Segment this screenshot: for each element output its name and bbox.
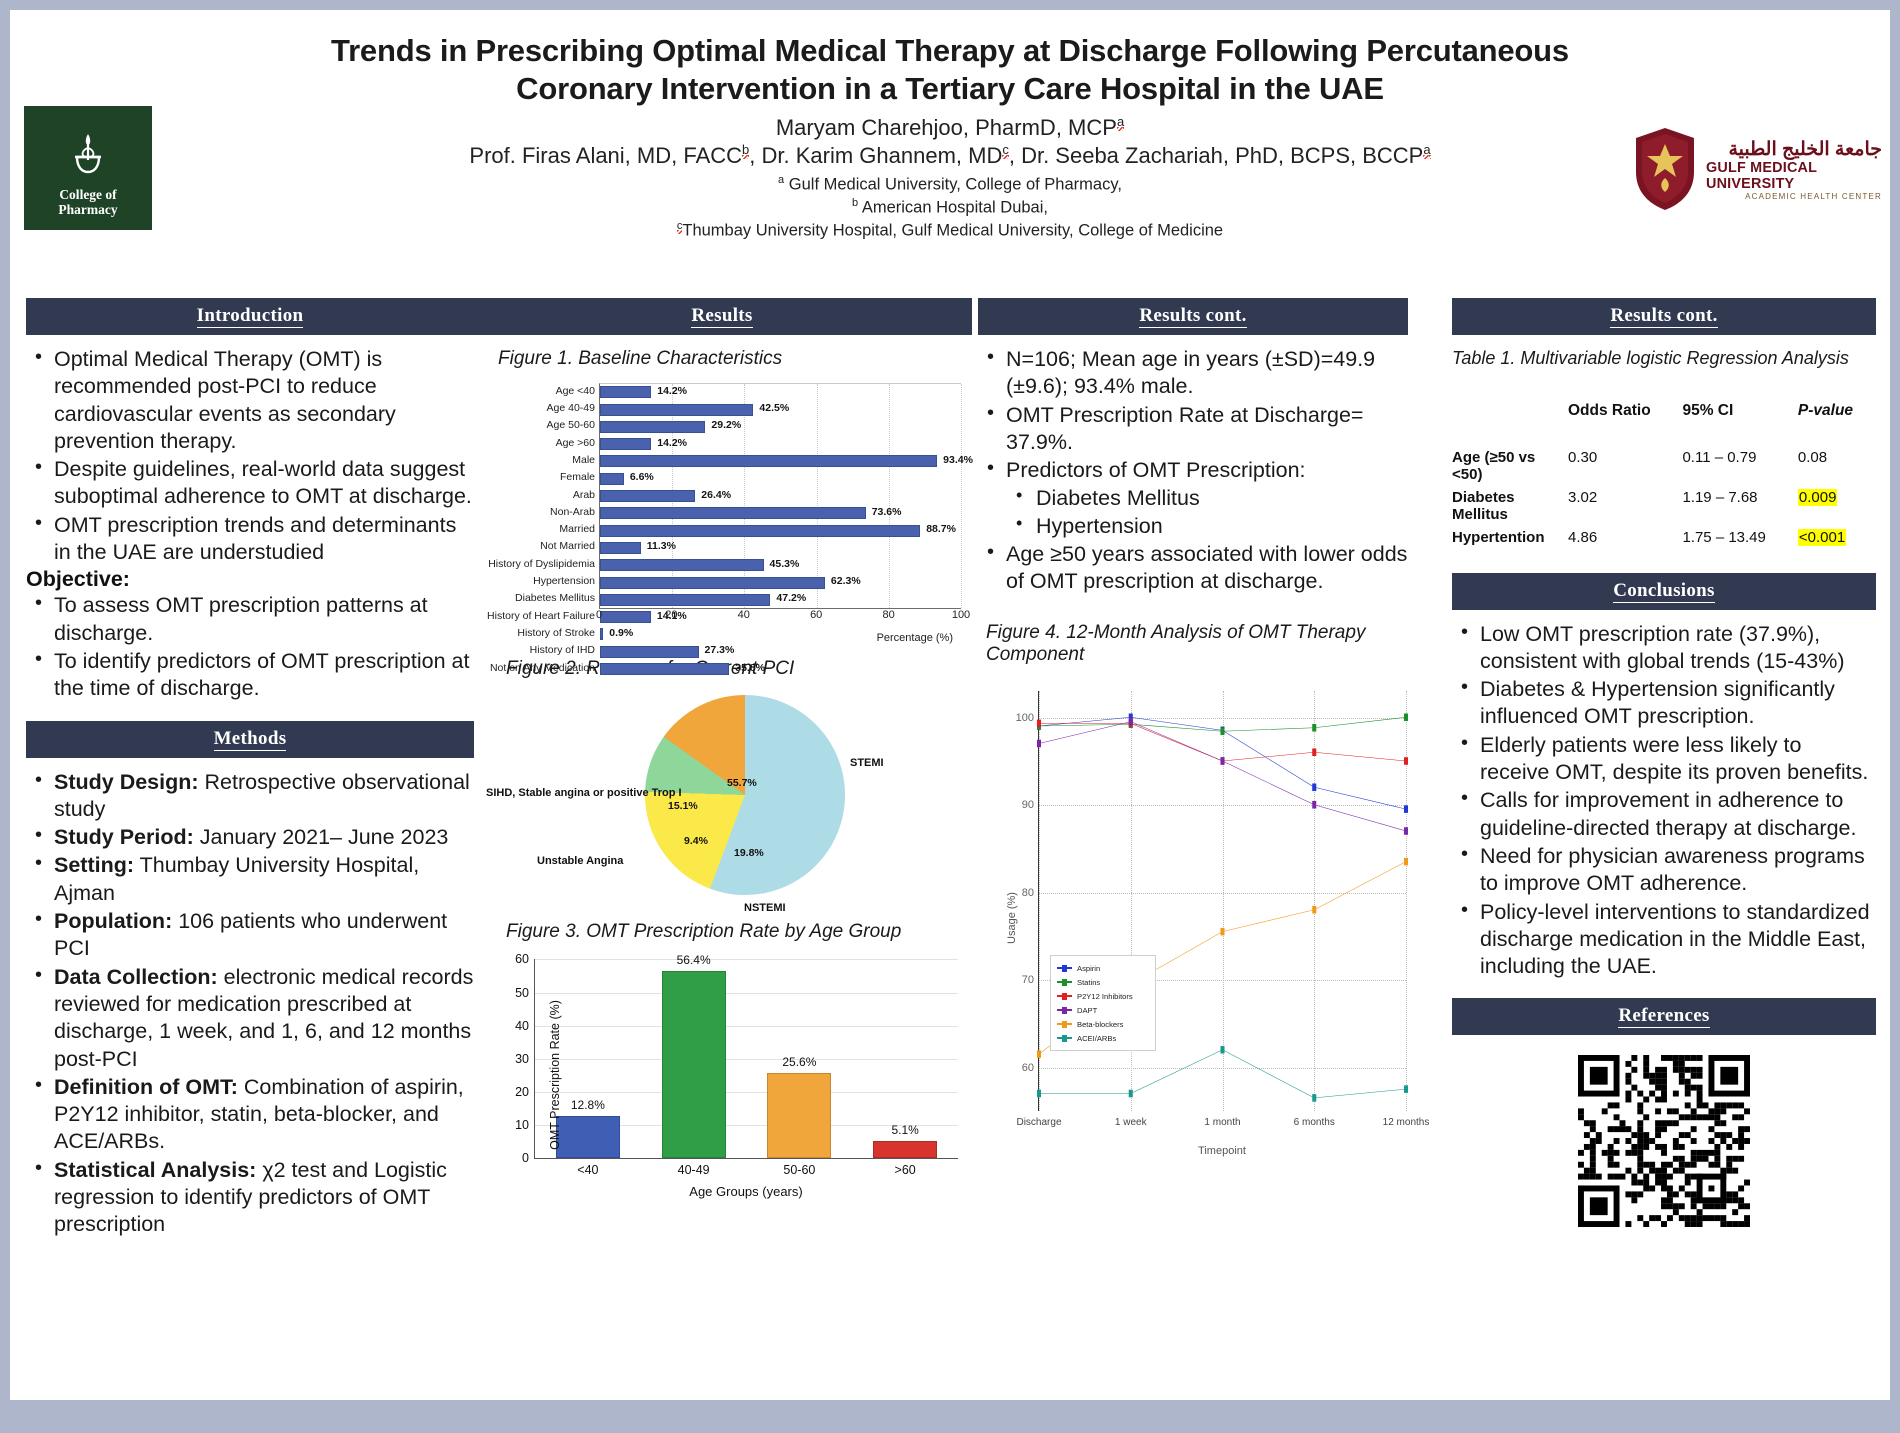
figure-4-caption: Figure 4. 12-Month Analysis of OMT Thera…	[986, 622, 1408, 668]
affiliation-b: b American Hospital Dubai,	[10, 196, 1890, 219]
method-text: January 2021– June 2023	[194, 825, 449, 849]
list-item: Optimal Medical Therapy (OMT) is recomme…	[26, 346, 474, 455]
table-cell-ci: 0.11 – 0.79	[1682, 446, 1797, 486]
list-item: Data Collection: electronic medical reco…	[26, 964, 474, 1073]
bar-value-label: 93.4%	[943, 454, 973, 466]
x-axis-tick: 60	[810, 609, 822, 621]
y-axis-tick: 60	[515, 952, 529, 966]
section-header-methods-label: Methods	[214, 728, 287, 751]
pie-slice-label: Unstable Angina	[537, 855, 623, 867]
legend-label: Aspirin	[1077, 964, 1100, 973]
list-item: To identify predictors of OMT prescripti…	[26, 648, 474, 703]
list-item: Age ≥50 years associated with lower odds…	[978, 541, 1408, 596]
gridline	[535, 1092, 958, 1093]
figure-3-y-axis-label: OMT Prescription Rate (%)	[548, 1000, 562, 1150]
table-cell-p-value: 0.08	[1798, 446, 1876, 486]
bar	[767, 1073, 831, 1158]
caduceus-bowl-of-hygieia-icon	[66, 130, 110, 181]
method-label: Data Collection:	[54, 965, 218, 989]
section-header-results-label: Results	[691, 305, 752, 328]
data-point	[1220, 1046, 1224, 1054]
list-item: Need for physician awareness programs to…	[1452, 843, 1876, 898]
list-item: Hypertension	[1006, 513, 1408, 540]
gridline	[535, 1059, 958, 1060]
affiliations: a Gulf Medical University, College of Ph…	[10, 173, 1890, 242]
section-header-references-label: References	[1618, 1005, 1709, 1028]
y-axis-tick: 100	[1016, 712, 1034, 724]
predictor-sublist: Diabetes Mellitus Hypertension	[1006, 485, 1408, 540]
legend-marker-icon	[1057, 995, 1072, 997]
column-1: Introduction Optimal Medical Therapy (OM…	[26, 298, 474, 1240]
objective-label: Objective:	[26, 567, 474, 592]
list-item: Study Design: Retrospective observationa…	[26, 769, 474, 824]
list-item: Setting: Thumbay University Hospital, Aj…	[26, 852, 474, 907]
affiliation-b-text: American Hospital Dubai,	[862, 198, 1048, 216]
figure-4-x-axis-label: Timepoint	[1038, 1145, 1406, 1157]
bar-value-label: 42.5%	[759, 402, 789, 414]
y-axis-tick: 80	[1022, 887, 1034, 899]
author-4-affil-mark: a	[1423, 142, 1430, 162]
bar-row: Age <4014.2%	[600, 384, 961, 401]
bar-value-label: 35.8%	[735, 662, 765, 674]
section-header-results: Results	[472, 298, 972, 335]
college-of-pharmacy-logo-text: College of Pharmacy	[58, 187, 117, 218]
gmu-logo-text: جامعة الخليج الطبية GULF MEDICAL UNIVERS…	[1706, 140, 1882, 201]
bar-category-label: History of IHD	[530, 644, 595, 656]
figure-3-caption: Figure 3. OMT Prescription Rate by Age G…	[506, 921, 972, 944]
legend-label: Beta-blockers	[1077, 1020, 1123, 1029]
bar	[600, 525, 920, 537]
bar-row: Age 40-4942.5%	[600, 401, 961, 418]
y-axis-tick: 90	[1022, 799, 1034, 811]
method-label: Statistical Analysis:	[54, 1158, 256, 1182]
legend-item: Aspirin	[1057, 961, 1149, 975]
list-item: Study Period: January 2021– June 2023	[26, 824, 474, 851]
bar	[600, 507, 866, 519]
bar-row: Non-Arab73.6%	[600, 505, 961, 522]
table-header-row: Odds Ratio 95% CI P-value	[1452, 402, 1876, 446]
table-row: Hypertention4.861.75 – 13.49<0.001	[1452, 526, 1876, 549]
data-point	[1404, 757, 1408, 765]
method-label: Definition of OMT:	[54, 1075, 238, 1099]
table-cell-variable: Diabetes Mellitus	[1452, 486, 1568, 526]
x-axis-tick: 1 month	[1204, 1117, 1240, 1128]
data-point	[1129, 718, 1133, 726]
author-2: Prof. Firas Alani, MD, FACC	[469, 143, 742, 168]
y-axis-tick: 60	[1022, 1062, 1034, 1074]
y-axis-tick: 40	[515, 1019, 529, 1033]
gridline	[535, 1026, 958, 1027]
y-axis-tick: 30	[515, 1052, 529, 1066]
gridline	[961, 384, 962, 608]
bar	[600, 404, 753, 416]
list-item: N=106; Mean age in years (±SD)=49.9 (±9.…	[978, 346, 1408, 401]
data-point	[1129, 1090, 1133, 1098]
bar-value-label: 29.2%	[711, 419, 741, 431]
bar	[873, 1141, 937, 1158]
table-row: Diabetes Mellitus3.021.19 – 7.680.009	[1452, 486, 1876, 526]
data-point	[1312, 1094, 1316, 1102]
method-label: Study Design:	[54, 770, 199, 794]
figure-1-x-axis: 020406080100	[599, 609, 961, 625]
table-cell-odds-ratio: 3.02	[1568, 486, 1682, 526]
line-series	[1039, 1050, 1406, 1098]
poster-title: Trends in Prescribing Optimal Medical Th…	[10, 10, 1890, 108]
bar-value-label: 12.8%	[571, 1098, 605, 1112]
bar-category-label: Married	[559, 523, 595, 535]
poster-title-line-1: Trends in Prescribing Optimal Medical Th…	[160, 32, 1740, 70]
bar-category-label: Arab	[573, 489, 595, 501]
table-cell-variable: Age (≥50 vs <50)	[1452, 446, 1568, 486]
author-line-2: Prof. Firas Alani, MD, FACCb, Dr. Karim …	[10, 142, 1890, 170]
methods-bullets: Study Design: Retrospective observationa…	[26, 769, 474, 1239]
list-item: Policy-level interventions to standardiz…	[1452, 899, 1876, 981]
data-point	[1404, 1086, 1408, 1094]
data-point	[1220, 728, 1224, 736]
bar-category-label: <40	[577, 1163, 598, 1177]
bar-category-label: Age 50-60	[547, 419, 595, 431]
bar-value-label: 14.2%	[657, 437, 687, 449]
list-item: Predictors of OMT Prescription: Diabetes…	[978, 457, 1408, 540]
bar-value-label: 6.6%	[630, 471, 654, 483]
gridline	[535, 959, 958, 960]
line-series	[1039, 722, 1406, 831]
bar-category-label: Non-Arab	[550, 506, 595, 518]
bar-category-label: History of Heart Failure	[487, 610, 595, 622]
table-cell-variable: Hypertention	[1452, 526, 1568, 549]
data-point	[1220, 757, 1224, 765]
data-point	[1037, 720, 1041, 728]
bar	[600, 438, 651, 450]
list-item: OMT Prescription Rate at Discharge= 37.9…	[978, 402, 1408, 457]
bar-row: Married88.7%	[600, 522, 961, 539]
bar-category-label: Not Married	[540, 540, 595, 552]
bar-row: History of Dyslipidemia45.3%	[600, 557, 961, 574]
section-header-results-cont: Results cont.	[978, 298, 1408, 335]
method-label: Population:	[54, 909, 172, 933]
legend-item: DAPT	[1057, 1003, 1149, 1017]
poster-title-line-2: Coronary Intervention in a Tertiary Care…	[160, 70, 1740, 108]
bar-category-label: Female	[560, 471, 595, 483]
bar-category-label: Diabetes Mellitus	[515, 592, 595, 604]
table-cell-odds-ratio: 0.30	[1568, 446, 1682, 486]
introduction-bullets: Optimal Medical Therapy (OMT) is recomme…	[26, 346, 474, 566]
list-item: To assess OMT prescription patterns at d…	[26, 592, 474, 647]
author-line-1: Maryam Charehjoo, PharmD, MCPa	[10, 114, 1890, 142]
section-header-references: References	[1452, 998, 1876, 1035]
y-axis-tick: 50	[515, 986, 529, 1000]
bar-value-label: 14.2%	[657, 385, 687, 397]
author-primary-affil-mark: a	[1117, 114, 1124, 134]
bar-value-label: 73.6%	[872, 506, 902, 518]
references-qr-container	[1452, 1055, 1876, 1227]
list-item: OMT prescription trends and determinants…	[26, 512, 474, 567]
list-item: Elderly patients were less likely to rec…	[1452, 732, 1876, 787]
bar	[600, 577, 825, 589]
data-point	[1404, 827, 1408, 835]
list-item: Diabetes Mellitus	[1006, 485, 1408, 512]
list-item: Statistical Analysis: χ2 test and Logist…	[26, 1157, 474, 1239]
bar	[662, 971, 726, 1158]
column-4: Results cont. Table 1. Multivariable log…	[1452, 298, 1876, 1227]
bar	[600, 628, 603, 640]
bar-value-label: 45.3%	[770, 558, 800, 570]
bar-category-label: History of Stroke	[517, 627, 595, 639]
qr-code[interactable]	[1578, 1055, 1750, 1227]
bar-category-label: Age >60	[556, 437, 595, 449]
table-col-p-value: P-value	[1798, 402, 1876, 446]
bar-category-label: Not on Any Medication	[490, 662, 595, 674]
figure-4-y-axis-label: Usage (%)	[1006, 892, 1018, 944]
y-axis-tick: 70	[1022, 974, 1034, 986]
table-cell-p-value: <0.001	[1798, 526, 1876, 549]
data-point	[1312, 906, 1316, 914]
pie-slice-value: 55.7%	[727, 777, 757, 789]
author-primary: Maryam Charehjoo, PharmD, MCP	[776, 115, 1117, 140]
bar-row: Age >6014.2%	[600, 436, 961, 453]
bar-value-label: 47.2%	[776, 592, 806, 604]
x-axis-tick: 6 months	[1294, 1117, 1335, 1128]
predictors-label: Predictors of OMT Prescription:	[1006, 458, 1306, 482]
logo-left-line-1: College of	[58, 187, 117, 203]
figure-1-x-axis-label: Percentage (%)	[877, 632, 953, 644]
affiliation-c: cThumbay University Hospital, Gulf Medic…	[10, 219, 1890, 242]
data-point	[1037, 1090, 1041, 1098]
legend-item: Statins	[1057, 975, 1149, 989]
x-axis-tick: 80	[882, 609, 894, 621]
x-axis-tick: Discharge	[1016, 1117, 1061, 1128]
poster-canvas: Trends in Prescribing Optimal Medical Th…	[10, 10, 1890, 1400]
affiliation-a: a Gulf Medical University, College of Ph…	[10, 173, 1890, 196]
bar-value-label: 27.3%	[705, 644, 735, 656]
affiliation-c-text: Thumbay University Hospital, Gulf Medica…	[682, 221, 1223, 239]
bar-row: Male93.4%	[600, 453, 961, 470]
bar-value-label: 26.4%	[701, 489, 731, 501]
section-header-conclusions-label: Conclusions	[1613, 580, 1715, 603]
bar-value-label: 88.7%	[926, 523, 956, 535]
pie-slice-label: SIHD, Stable angina or positive Trop I	[486, 787, 682, 799]
list-item: Despite guidelines, real-world data sugg…	[26, 456, 474, 511]
bar-category-label: 40-49	[678, 1163, 710, 1177]
gmu-shield-icon	[1632, 126, 1698, 217]
list-item: Population: 106 patients who underwent P…	[26, 908, 474, 963]
college-of-pharmacy-logo: College of Pharmacy	[24, 106, 152, 230]
y-axis-tick: 0	[522, 1151, 529, 1165]
list-item: Diabetes & Hypertension significantly in…	[1452, 676, 1876, 731]
logo-left-line-2: Pharmacy	[58, 202, 117, 218]
table-cell-ci: 1.19 – 7.68	[1682, 486, 1797, 526]
figure-3-plot-area: 010203040506012.8%<4056.4%40-4925.6%50-6…	[534, 959, 958, 1159]
section-header-methods: Methods	[26, 721, 474, 758]
bar	[600, 542, 641, 554]
section-header-introduction: Introduction	[26, 298, 474, 335]
bar-value-label: 0.9%	[609, 627, 633, 639]
bar	[600, 663, 729, 675]
section-header-introduction-label: Introduction	[197, 305, 304, 328]
author-3: , Dr. Karim Ghannem, MD	[749, 143, 1002, 168]
bar-category-label: Age <40	[556, 385, 595, 397]
bar-row: Hypertension62.3%	[600, 574, 961, 591]
y-axis-tick: 10	[515, 1118, 529, 1132]
bar-row: Arab26.4%	[600, 488, 961, 505]
bar-value-label: 5.1%	[891, 1123, 918, 1137]
table-cell-p-value: 0.009	[1798, 486, 1876, 526]
list-item: Calls for improvement in adherence to gu…	[1452, 787, 1876, 842]
author-4: , Dr. Seeba Zachariah, PhD, BCPS, BCCP	[1009, 143, 1424, 168]
bar-category-label: >60	[895, 1163, 916, 1177]
pie-slice-label: STEMI	[850, 757, 884, 769]
affiliation-a-mark: a	[778, 174, 784, 186]
legend-label: P2Y12 Inhibitors	[1077, 992, 1133, 1001]
bar	[600, 386, 651, 398]
legend-item: P2Y12 Inhibitors	[1057, 989, 1149, 1003]
pie-slice-value: 15.1%	[668, 800, 698, 812]
legend-label: Statins	[1077, 978, 1100, 987]
list-item: Low OMT prescription rate (37.9%), consi…	[1452, 621, 1876, 676]
objective-bullets: To assess OMT prescription patterns at d…	[26, 592, 474, 702]
bar-row: Not on Any Medication35.8%	[600, 661, 961, 678]
data-point	[1037, 1051, 1041, 1059]
bar-category-label: History of Dyslipidemia	[488, 558, 595, 570]
legend-item: ACEI/ARBs	[1057, 1031, 1149, 1045]
bar	[600, 473, 624, 485]
x-axis-tick: 40	[738, 609, 750, 621]
bar	[556, 1116, 620, 1158]
data-point	[1404, 714, 1408, 722]
figure-3-x-axis-label: Age Groups (years)	[534, 1184, 958, 1199]
column-3: Results cont. N=106; Mean age in years (…	[978, 298, 1408, 1163]
section-header-results-cont-label: Results cont.	[1139, 305, 1246, 328]
bar-category-label: 50-60	[783, 1163, 815, 1177]
section-header-results-cont-2-label: Results cont.	[1610, 305, 1717, 328]
data-point	[1312, 749, 1316, 757]
bar-row: History of IHD27.3%	[600, 643, 961, 660]
data-point	[1312, 784, 1316, 792]
data-point	[1404, 806, 1408, 814]
p-value-highlight: 0.009	[1798, 489, 1838, 506]
table-1-multivariable-logistic-regression: Odds Ratio 95% CI P-value Age (≥50 vs <5…	[1452, 402, 1876, 549]
method-label: Setting:	[54, 853, 134, 877]
figure-1-caption: Figure 1. Baseline Characteristics	[498, 348, 972, 371]
bar	[600, 455, 937, 467]
bar-row: Age 50-6029.2%	[600, 418, 961, 435]
bar-row: Not Married11.3%	[600, 539, 961, 556]
gmu-arabic-name: جامعة الخليج الطبية	[1706, 140, 1882, 161]
gmu-tagline: ACADEMIC HEALTH CENTER	[1706, 193, 1882, 202]
table-col-odds-ratio: Odds Ratio	[1568, 402, 1682, 446]
figure-4-12-month-omt-line-chart: Discharge1 week1 month6 months12 months6…	[982, 673, 1412, 1163]
bar	[600, 646, 699, 658]
table-row: Age (≥50 vs <50)0.300.11 – 0.790.08	[1452, 446, 1876, 486]
affiliation-b-mark: b	[852, 197, 858, 209]
x-axis-tick: 12 months	[1383, 1117, 1430, 1128]
affiliation-a-text: Gulf Medical University, College of Phar…	[789, 175, 1122, 193]
method-label: Study Period:	[54, 825, 194, 849]
legend-label: ACEI/ARBs	[1077, 1034, 1116, 1043]
table-1-caption: Table 1. Multivariable logistic Regressi…	[1452, 348, 1876, 370]
gridline	[535, 993, 958, 994]
bar-category-label: Age 40-49	[547, 402, 595, 414]
table-col-95-ci: 95% CI	[1682, 402, 1797, 446]
table-cell-ci: 1.75 – 13.49	[1682, 526, 1797, 549]
legend-marker-icon	[1057, 981, 1072, 983]
section-header-results-cont-2: Results cont.	[1452, 298, 1876, 335]
data-point	[1037, 740, 1041, 748]
legend-marker-icon	[1057, 1009, 1072, 1011]
gridline	[1406, 691, 1407, 1111]
figure-1-baseline-characteristics-chart: Age <4014.2%Age 40-4942.5%Age 50-6029.2%…	[477, 377, 969, 645]
bar	[600, 559, 764, 571]
data-point	[1312, 724, 1316, 732]
bar-value-label: 25.6%	[782, 1055, 816, 1069]
bar-row: Female6.6%	[600, 470, 961, 487]
p-value-highlight: <0.001	[1798, 529, 1846, 546]
pie-slice-label: NSTEMI	[744, 902, 786, 914]
legend-item: Beta-blockers	[1057, 1017, 1149, 1031]
pie-slice-value: 9.4%	[684, 835, 708, 847]
figure-2-reasons-for-pci-pie-chart: STEMI55.7%NSTEMI19.8%Unstable Angina9.4%…	[472, 687, 972, 917]
data-point	[1220, 928, 1224, 936]
bar	[600, 594, 770, 606]
gmu-english-name: GULF MEDICAL UNIVERSITY	[1706, 161, 1882, 193]
gulf-medical-university-logo: جامعة الخليج الطبية GULF MEDICAL UNIVERS…	[1632, 118, 1882, 224]
bar	[600, 490, 695, 502]
section-header-conclusions: Conclusions	[1452, 573, 1876, 610]
column-2: Results Figure 1. Baseline Characteristi…	[472, 298, 972, 1201]
data-point	[1312, 801, 1316, 809]
bar-value-label: 62.3%	[831, 575, 861, 587]
bar-value-label: 56.4%	[677, 953, 711, 967]
legend-marker-icon	[1057, 1023, 1072, 1025]
figure-4-legend: AspirinStatinsP2Y12 InhibitorsDAPTBeta-b…	[1050, 955, 1156, 1051]
conclusions-bullets: Low OMT prescription rate (37.9%), consi…	[1452, 621, 1876, 981]
bar	[600, 421, 705, 433]
x-axis-tick: 1 week	[1115, 1117, 1147, 1128]
author-list: Maryam Charehjoo, PharmD, MCPa Prof. Fir…	[10, 114, 1890, 170]
x-axis-tick: 100	[952, 609, 970, 621]
list-item: Definition of OMT: Combination of aspiri…	[26, 1074, 474, 1156]
y-axis-tick: 20	[515, 1085, 529, 1099]
data-point	[1404, 858, 1408, 866]
figure-1-plot-area: Age <4014.2%Age 40-4942.5%Age 50-6029.2%…	[599, 383, 961, 609]
pie-slice-value: 19.8%	[734, 847, 764, 859]
table-cell-odds-ratio: 4.86	[1568, 526, 1682, 549]
legend-marker-icon	[1057, 1037, 1072, 1039]
results-bullets: N=106; Mean age in years (±SD)=49.9 (±9.…	[978, 346, 1408, 596]
bar-row: Diabetes Mellitus47.2%	[600, 591, 961, 608]
footer-strip	[0, 1411, 1900, 1433]
bar-category-label: Male	[572, 454, 595, 466]
bar-category-label: Hypertension	[533, 575, 595, 587]
x-axis-tick: 20	[665, 609, 677, 621]
legend-label: DAPT	[1077, 1006, 1097, 1015]
x-axis-tick: 0	[596, 609, 602, 621]
figure-3-omt-rate-by-age-chart: 010203040506012.8%<4056.4%40-4925.6%50-6…	[478, 949, 970, 1201]
legend-marker-icon	[1057, 967, 1072, 969]
bar-value-label: 11.3%	[647, 540, 676, 552]
table-col-variable	[1452, 402, 1568, 446]
